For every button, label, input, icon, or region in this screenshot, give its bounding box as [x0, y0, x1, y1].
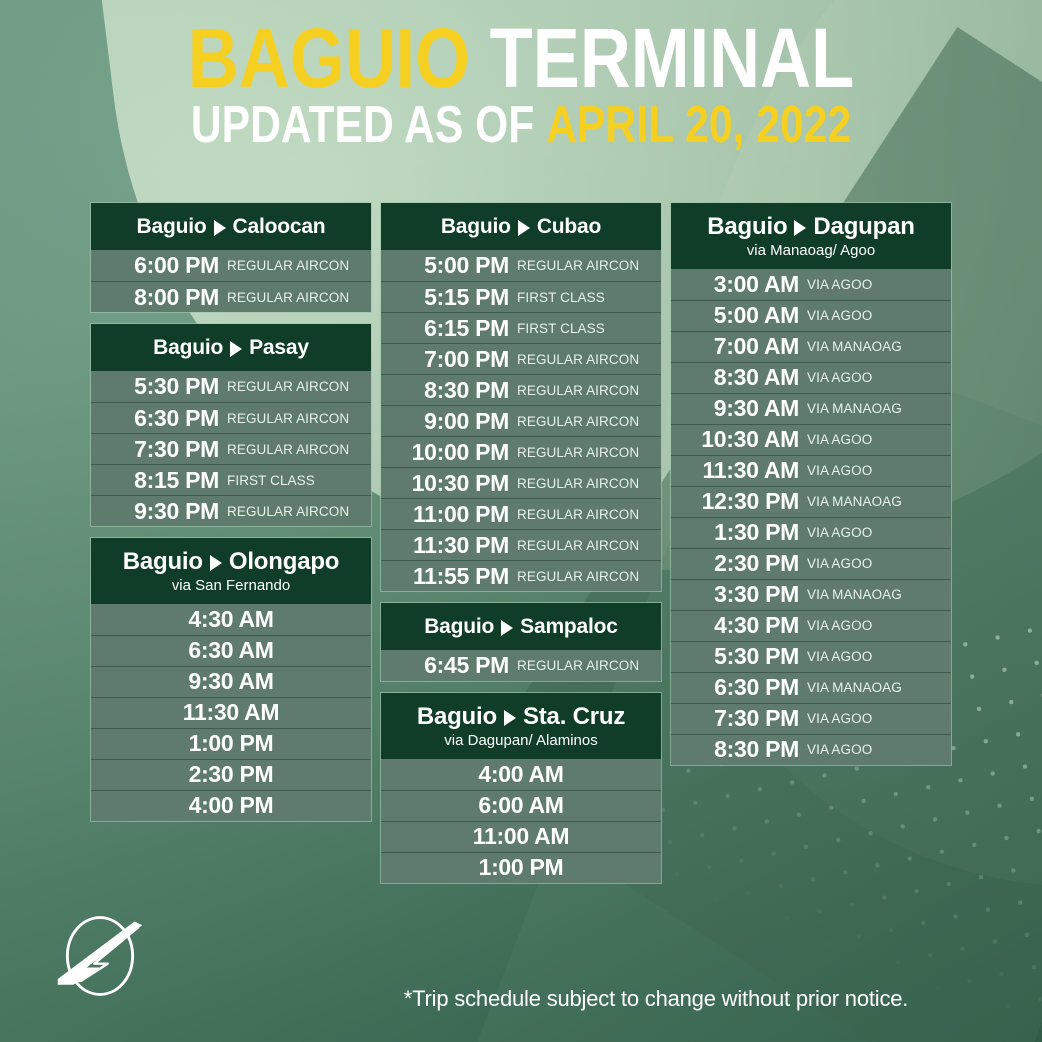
route-destination: Pasay — [249, 336, 309, 360]
subtitle-prefix: UPDATED AS OF — [191, 96, 535, 154]
departure-time: 2:30 PM — [671, 550, 807, 577]
table-row[interactable]: 4:30 AM — [91, 604, 371, 635]
route-origin: Baguio — [417, 703, 497, 731]
table-row[interactable]: 7:30 PMVIA AGOO — [671, 703, 951, 734]
route-header: BaguioSta. Cruzvia Dagupan/ Alaminos — [381, 693, 661, 759]
table-row[interactable]: 2:30 PMVIA AGOO — [671, 548, 951, 579]
title-rest: TERMINAL — [490, 11, 855, 105]
departure-time: 6:15 PM — [381, 315, 517, 342]
service-type-label: VIA MANAOAG — [807, 339, 902, 354]
route-table-caloocan: BaguioCaloocan6:00 PMREGULAR AIRCON8:00 … — [90, 202, 372, 313]
departure-time: 8:30 AM — [671, 364, 807, 391]
route-header: BaguioSampaloc — [381, 603, 661, 650]
route-table-dagupan: BaguioDagupanvia Manaoag/ Agoo3:00 AMVIA… — [670, 202, 952, 766]
table-row[interactable]: 8:30 PMREGULAR AIRCON — [381, 374, 661, 405]
departure-time: 5:30 PM — [671, 643, 807, 670]
departure-time: 3:00 AM — [671, 271, 807, 298]
departure-time: 4:00 PM — [189, 792, 274, 819]
route-table-pasay: BaguioPasay5:30 PMREGULAR AIRCON6:30 PMR… — [90, 323, 372, 527]
poster-title-block: BAGUIO TERMINAL UPDATED AS OF APRIL 20, … — [0, 16, 1042, 152]
departure-time: 11:30 AM — [183, 699, 279, 726]
departure-time: 7:00 AM — [671, 333, 807, 360]
arrow-right-icon — [518, 220, 530, 236]
departure-time: 4:30 AM — [188, 606, 273, 633]
page-subtitle: UPDATED AS OF APRIL 20, 2022 — [94, 98, 948, 153]
departure-time: 11:00 PM — [381, 501, 517, 528]
route-header: BaguioCubao — [381, 203, 661, 250]
table-row[interactable]: 9:30 PMREGULAR AIRCON — [91, 495, 371, 526]
route-title: BaguioCubao — [387, 215, 655, 239]
table-row[interactable]: 11:30 AMVIA AGOO — [671, 455, 951, 486]
table-row[interactable]: 2:30 PM — [91, 759, 371, 790]
departure-time: 2:30 PM — [189, 761, 274, 788]
route-table-sta-cruz: BaguioSta. Cruzvia Dagupan/ Alaminos4:00… — [380, 692, 662, 884]
departure-time: 1:00 PM — [189, 730, 274, 757]
schedule-rows: 5:30 PMREGULAR AIRCON6:30 PMREGULAR AIRC… — [91, 371, 371, 526]
service-type-label: REGULAR AIRCON — [517, 507, 639, 522]
departure-time: 12:30 PM — [671, 488, 807, 515]
service-type-label: REGULAR AIRCON — [227, 442, 349, 457]
arrow-right-icon — [210, 555, 222, 571]
route-via-label: via Manaoag/ Agoo — [677, 242, 945, 260]
route-title: BaguioSta. Cruz — [387, 703, 655, 731]
table-row[interactable]: 5:30 PMVIA AGOO — [671, 641, 951, 672]
subtitle-date: APRIL 20, 2022 — [546, 96, 851, 154]
service-type-label: REGULAR AIRCON — [517, 352, 639, 367]
departure-time: 7:30 PM — [671, 705, 807, 732]
departure-time: 11:55 PM — [381, 563, 517, 590]
route-header: BaguioDagupanvia Manaoag/ Agoo — [671, 203, 951, 269]
table-row[interactable]: 5:15 PMFIRST CLASS — [381, 281, 661, 312]
table-row[interactable]: 1:00 PM — [91, 728, 371, 759]
service-type-label: VIA AGOO — [807, 556, 872, 571]
departure-time: 6:45 PM — [381, 652, 517, 679]
schedule-column-2: BaguioCubao5:00 PMREGULAR AIRCON5:15 PMF… — [380, 202, 662, 884]
service-type-label: REGULAR AIRCON — [517, 445, 639, 460]
route-destination: Caloocan — [233, 215, 326, 239]
route-title: BaguioDagupan — [677, 213, 945, 241]
schedule-poster: BAGUIO TERMINAL UPDATED AS OF APRIL 20, … — [0, 0, 1042, 1042]
table-row[interactable]: 3:30 PMVIA MANAOAG — [671, 579, 951, 610]
service-type-label: VIA AGOO — [807, 370, 872, 385]
departure-time: 8:15 PM — [91, 467, 227, 494]
service-type-label: REGULAR AIRCON — [227, 379, 349, 394]
table-row[interactable]: 10:30 PMREGULAR AIRCON — [381, 467, 661, 498]
arrow-right-icon — [504, 710, 516, 726]
departure-time: 6:30 PM — [671, 674, 807, 701]
service-type-label: VIA AGOO — [807, 525, 872, 540]
service-type-label: VIA AGOO — [807, 432, 872, 447]
table-row[interactable]: 4:00 AM — [381, 759, 661, 790]
departure-time: 11:30 AM — [671, 457, 807, 484]
schedule-rows: 6:00 PMREGULAR AIRCON8:00 PMREGULAR AIRC… — [91, 250, 371, 312]
departure-time: 11:00 AM — [473, 823, 569, 850]
service-type-label: VIA AGOO — [807, 742, 872, 757]
table-row[interactable]: 4:00 PM — [91, 790, 371, 821]
departure-time: 5:15 PM — [381, 284, 517, 311]
service-type-label: REGULAR AIRCON — [517, 258, 639, 273]
schedule-column-3: BaguioDagupanvia Manaoag/ Agoo3:00 AMVIA… — [670, 202, 952, 884]
service-type-label: REGULAR AIRCON — [227, 290, 349, 305]
arrow-right-icon — [794, 220, 806, 236]
table-row[interactable]: 10:00 PMREGULAR AIRCON — [381, 436, 661, 467]
departure-time: 5:00 AM — [671, 302, 807, 329]
table-row[interactable]: 11:30 AM — [91, 697, 371, 728]
route-table-sampaloc: BaguioSampaloc6:45 PMREGULAR AIRCON — [380, 602, 662, 682]
departure-time: 3:30 PM — [671, 581, 807, 608]
route-header: BaguioCaloocan — [91, 203, 371, 250]
table-row[interactable]: 9:30 AM — [91, 666, 371, 697]
arrow-right-icon — [501, 620, 513, 636]
departure-time: 4:30 PM — [671, 612, 807, 639]
service-type-label: VIA MANAOAG — [807, 680, 902, 695]
table-row[interactable]: 11:00 AM — [381, 821, 661, 852]
route-title: BaguioPasay — [97, 336, 365, 360]
schedule-columns: BaguioCaloocan6:00 PMREGULAR AIRCON8:00 … — [90, 202, 952, 884]
table-row[interactable]: 7:30 PMREGULAR AIRCON — [91, 433, 371, 464]
schedule-rows: 6:45 PMREGULAR AIRCON — [381, 650, 661, 681]
route-origin: Baguio — [137, 215, 207, 239]
departure-time: 7:00 PM — [381, 346, 517, 373]
route-origin: Baguio — [123, 548, 203, 576]
departure-time: 5:00 PM — [381, 252, 517, 279]
table-row[interactable]: 6:30 PMVIA MANAOAG — [671, 672, 951, 703]
route-via-label: via San Fernando — [97, 577, 365, 595]
disclaimer-note: *Trip schedule subject to change without… — [330, 986, 982, 1012]
page-title: BAGUIO TERMINAL — [83, 16, 958, 102]
table-row[interactable]: 6:30 PMREGULAR AIRCON — [91, 402, 371, 433]
route-header: BaguioPasay — [91, 324, 371, 371]
schedule-rows: 4:30 AM6:30 AM9:30 AM11:30 AM1:00 PM2:30… — [91, 604, 371, 821]
service-type-label: VIA AGOO — [807, 277, 872, 292]
arrow-right-icon — [230, 341, 242, 357]
schedule-rows: 4:00 AM6:00 AM11:00 AM1:00 PM — [381, 759, 661, 883]
route-via-label: via Dagupan/ Alaminos — [387, 732, 655, 750]
arrow-right-icon — [214, 220, 226, 236]
service-type-label: VIA AGOO — [807, 308, 872, 323]
departure-time: 4:00 AM — [478, 761, 563, 788]
departure-time: 9:00 PM — [381, 408, 517, 435]
table-row[interactable]: 7:00 PMREGULAR AIRCON — [381, 343, 661, 374]
table-row[interactable]: 8:30 AMVIA AGOO — [671, 362, 951, 393]
table-row[interactable]: 9:30 AMVIA MANAOAG — [671, 393, 951, 424]
table-row[interactable]: 3:00 AMVIA AGOO — [671, 269, 951, 300]
table-row[interactable]: 5:30 PMREGULAR AIRCON — [91, 371, 371, 402]
title-highlight: BAGUIO — [188, 11, 470, 105]
table-row[interactable]: 12:30 PMVIA MANAOAG — [671, 486, 951, 517]
route-table-cubao: BaguioCubao5:00 PMREGULAR AIRCON5:15 PMF… — [380, 202, 662, 592]
departure-time: 1:00 PM — [479, 854, 564, 881]
table-row[interactable]: 6:00 PMREGULAR AIRCON — [91, 250, 371, 281]
departure-time: 7:30 PM — [91, 436, 227, 463]
departure-time: 5:30 PM — [91, 373, 227, 400]
departure-time: 10:30 AM — [671, 426, 807, 453]
table-row[interactable]: 1:00 PM — [381, 852, 661, 883]
table-row[interactable]: 7:00 AMVIA MANAOAG — [671, 331, 951, 362]
table-row[interactable]: 11:00 PMREGULAR AIRCON — [381, 498, 661, 529]
table-row[interactable]: 4:30 PMVIA AGOO — [671, 610, 951, 641]
departure-time: 6:00 PM — [91, 252, 227, 279]
service-type-label: VIA AGOO — [807, 463, 872, 478]
departure-time: 8:30 PM — [671, 736, 807, 763]
table-row[interactable]: 8:15 PMFIRST CLASS — [91, 464, 371, 495]
service-type-label: REGULAR AIRCON — [517, 476, 639, 491]
departure-time: 6:00 AM — [478, 792, 563, 819]
victory-liner-logo-icon — [52, 908, 148, 1004]
route-header: BaguioOlongapovia San Fernando — [91, 538, 371, 604]
service-type-label: FIRST CLASS — [517, 290, 605, 305]
schedule-rows: 3:00 AMVIA AGOO5:00 AMVIA AGOO7:00 AMVIA… — [671, 269, 951, 765]
table-row[interactable]: 1:30 PMVIA AGOO — [671, 517, 951, 548]
service-type-label: VIA MANAOAG — [807, 587, 902, 602]
route-destination: Olongapo — [229, 548, 339, 576]
departure-time: 10:30 PM — [381, 470, 517, 497]
service-type-label: REGULAR AIRCON — [517, 658, 639, 673]
table-row[interactable]: 6:15 PMFIRST CLASS — [381, 312, 661, 343]
departure-time: 11:30 PM — [381, 532, 517, 559]
departure-time: 9:30 AM — [671, 395, 807, 422]
table-row[interactable]: 11:55 PMREGULAR AIRCON — [381, 560, 661, 591]
route-origin: Baguio — [707, 213, 787, 241]
route-title: BaguioCaloocan — [97, 215, 365, 239]
service-type-label: REGULAR AIRCON — [227, 504, 349, 519]
route-title: BaguioSampaloc — [387, 615, 655, 639]
table-row[interactable]: 6:00 AM — [381, 790, 661, 821]
departure-time: 6:30 PM — [91, 405, 227, 432]
table-row[interactable]: 5:00 PMREGULAR AIRCON — [381, 250, 661, 281]
service-type-label: REGULAR AIRCON — [517, 383, 639, 398]
departure-time: 10:00 PM — [381, 439, 517, 466]
service-type-label: VIA AGOO — [807, 618, 872, 633]
service-type-label: VIA MANAOAG — [807, 401, 902, 416]
route-title: BaguioOlongapo — [97, 548, 365, 576]
route-destination: Sampaloc — [520, 615, 618, 639]
departure-time: 8:00 PM — [91, 284, 227, 311]
departure-time: 6:30 AM — [188, 637, 273, 664]
table-row[interactable]: 5:00 AMVIA AGOO — [671, 300, 951, 331]
route-origin: Baguio — [424, 615, 494, 639]
route-origin: Baguio — [441, 215, 511, 239]
table-row[interactable]: 10:30 AMVIA AGOO — [671, 424, 951, 455]
table-row[interactable]: 11:30 PMREGULAR AIRCON — [381, 529, 661, 560]
table-row[interactable]: 9:00 PMREGULAR AIRCON — [381, 405, 661, 436]
schedule-rows: 5:00 PMREGULAR AIRCON5:15 PMFIRST CLASS6… — [381, 250, 661, 591]
table-row[interactable]: 6:45 PMREGULAR AIRCON — [381, 650, 661, 681]
table-row[interactable]: 8:30 PMVIA AGOO — [671, 734, 951, 765]
departure-time: 1:30 PM — [671, 519, 807, 546]
service-type-label: REGULAR AIRCON — [227, 258, 349, 273]
schedule-column-1: BaguioCaloocan6:00 PMREGULAR AIRCON8:00 … — [90, 202, 372, 884]
route-destination: Dagupan — [813, 213, 914, 241]
service-type-label: REGULAR AIRCON — [517, 538, 639, 553]
route-destination: Cubao — [537, 215, 601, 239]
service-type-label: FIRST CLASS — [517, 321, 605, 336]
service-type-label: REGULAR AIRCON — [227, 411, 349, 426]
route-origin: Baguio — [153, 336, 223, 360]
service-type-label: VIA MANAOAG — [807, 494, 902, 509]
service-type-label: REGULAR AIRCON — [517, 569, 639, 584]
service-type-label: VIA AGOO — [807, 649, 872, 664]
service-type-label: VIA AGOO — [807, 711, 872, 726]
departure-time: 9:30 AM — [188, 668, 273, 695]
service-type-label: FIRST CLASS — [227, 473, 315, 488]
route-table-olongapo: BaguioOlongapovia San Fernando4:30 AM6:3… — [90, 537, 372, 822]
departure-time: 9:30 PM — [91, 498, 227, 525]
table-row[interactable]: 6:30 AM — [91, 635, 371, 666]
table-row[interactable]: 8:00 PMREGULAR AIRCON — [91, 281, 371, 312]
route-destination: Sta. Cruz — [523, 703, 625, 731]
departure-time: 8:30 PM — [381, 377, 517, 404]
service-type-label: REGULAR AIRCON — [517, 414, 639, 429]
